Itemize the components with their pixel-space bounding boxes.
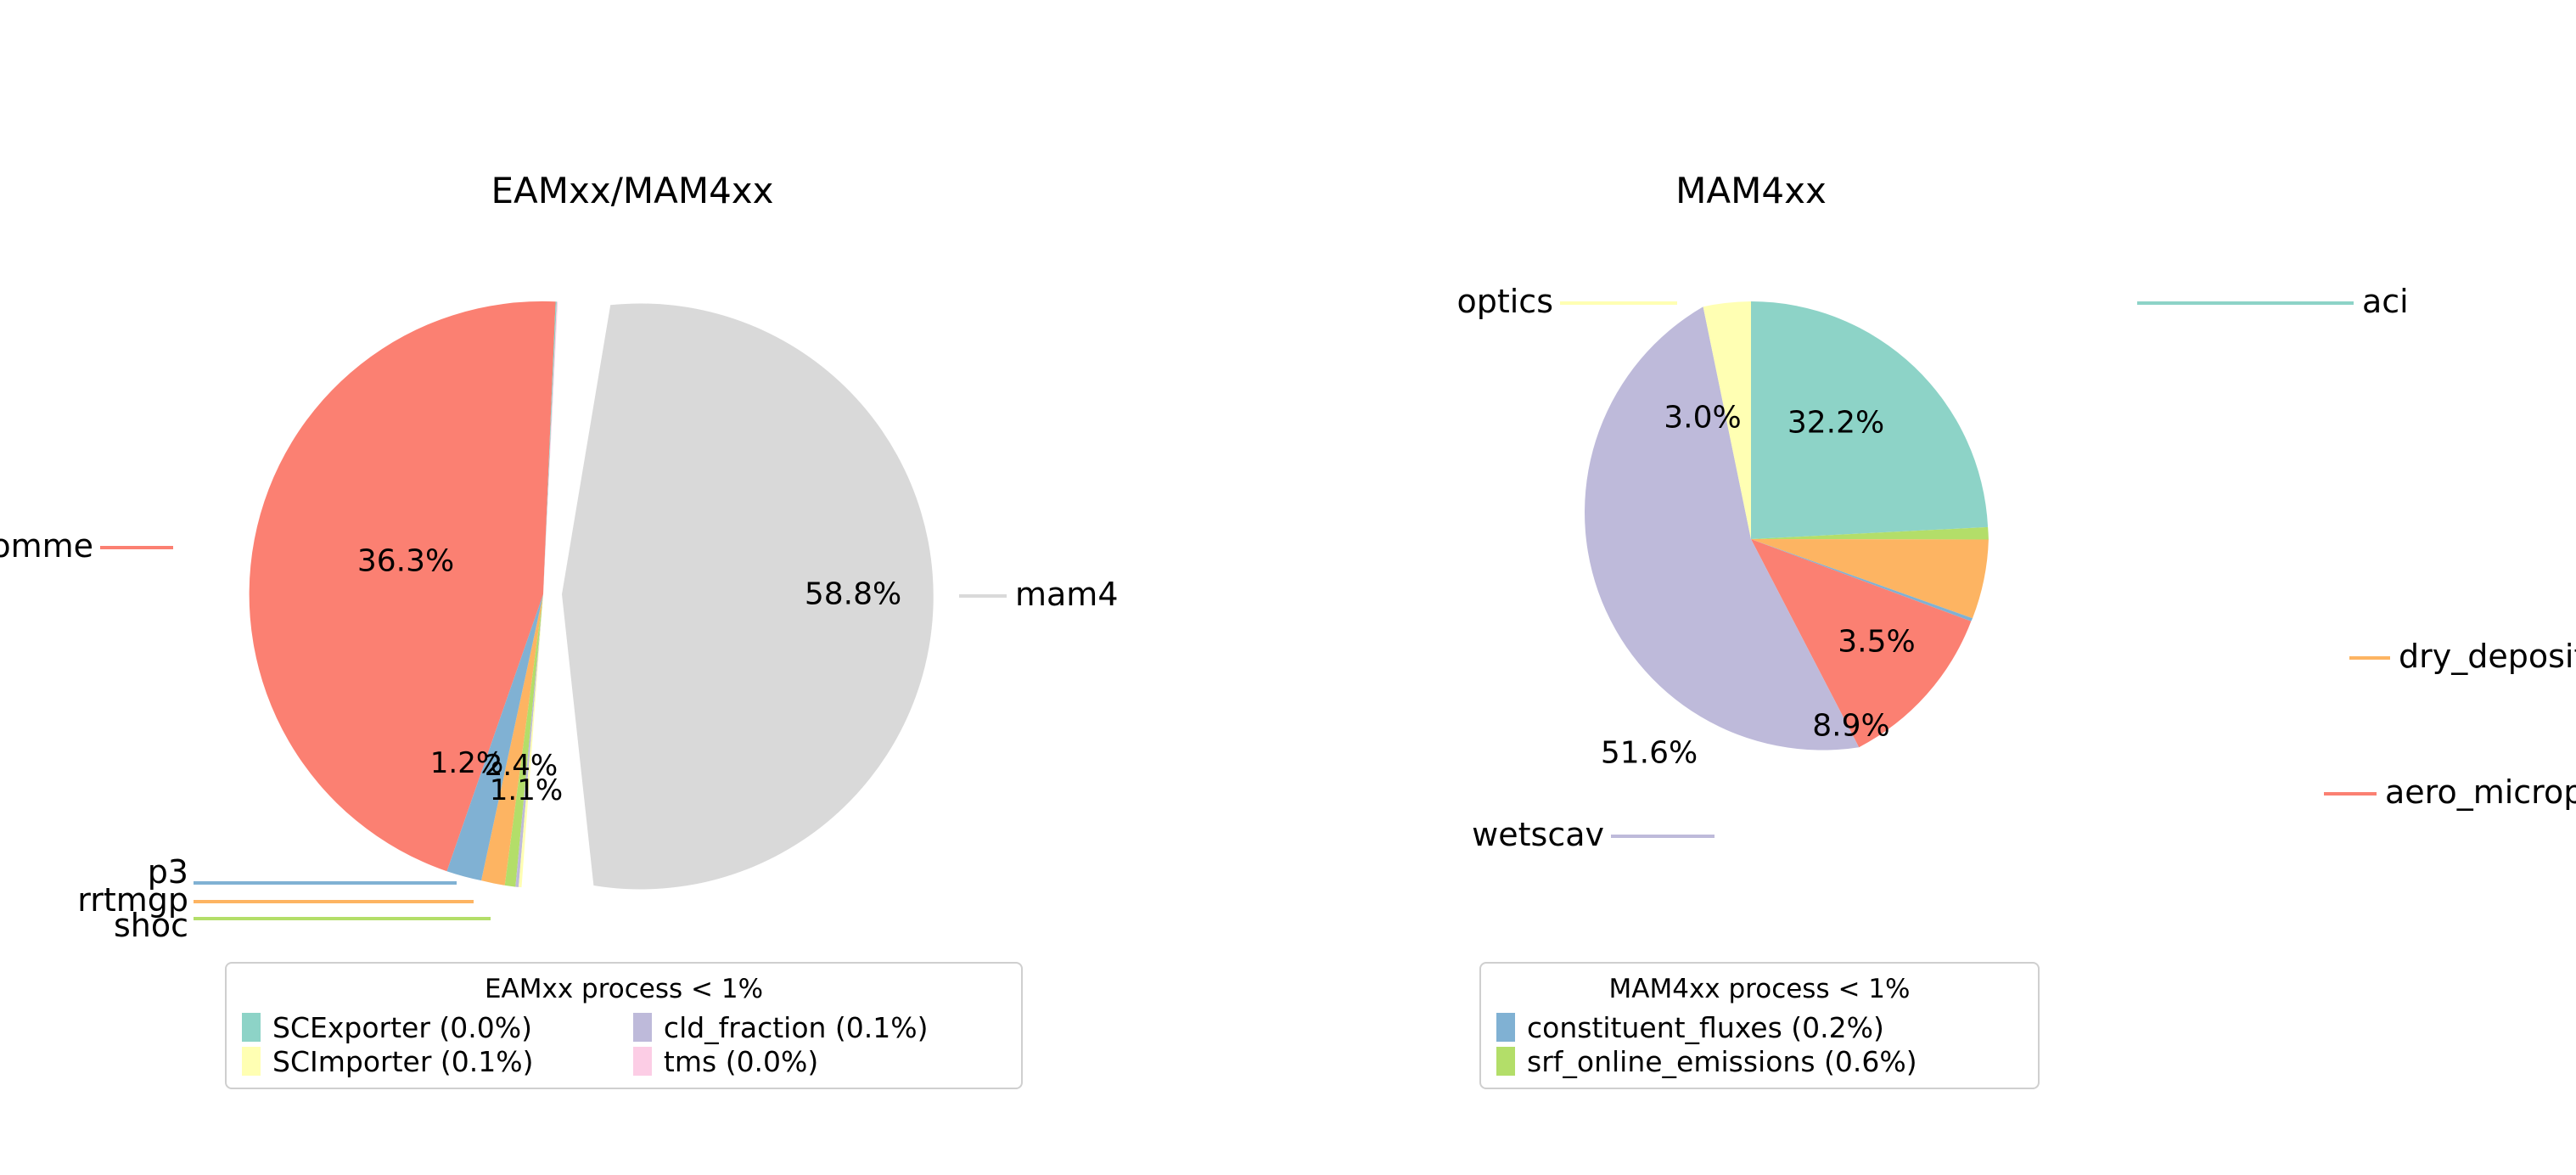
legend-label: srf_online_emissions (0.6%) xyxy=(1527,1048,1917,1076)
right-label-dry-deposition: dry_deposition xyxy=(2399,638,2576,675)
right-label-wetscav: wetscav xyxy=(1472,816,1604,853)
left-label-shoc: shoc xyxy=(114,907,188,944)
legend-label: SCImporter (0.1%) xyxy=(272,1048,533,1076)
right-legend: MAM4xx process < 1% constituent_fluxes (… xyxy=(1479,962,2040,1089)
left-leader-homme xyxy=(100,546,173,549)
legend-label: cld_fraction (0.1%) xyxy=(664,1014,929,1042)
left-leader-shoc xyxy=(194,917,491,920)
right-pct-aci: 32.2% xyxy=(1787,406,1884,441)
left-legend-title: EAMxx process < 1% xyxy=(242,974,1006,1004)
right-pct-dry-deposition: 3.5% xyxy=(1838,625,1915,660)
legend-swatch-cld-fraction xyxy=(633,1013,652,1042)
left-legend-items: SCExporter (0.0%) cld_fraction (0.1%) SC… xyxy=(242,1013,1006,1076)
right-pct-aero-microphysics: 8.9% xyxy=(1812,709,1889,744)
right-pct-wetscav: 51.6% xyxy=(1601,736,1698,771)
left-leader-rrtmgp xyxy=(194,900,474,903)
legend-swatch-srf-online-emissions xyxy=(1496,1047,1515,1076)
right-pct-optics: 3.0% xyxy=(1664,401,1741,436)
right-pie-panel: MAM4xx 32.2% 3.0% 3.5% xyxy=(1288,0,2576,1175)
left-leader-p3 xyxy=(194,881,457,885)
left-pct-homme: 36.3% xyxy=(357,544,454,579)
right-leader-dry-deposition xyxy=(2349,656,2390,660)
legend-swatch-scimporter xyxy=(242,1047,261,1076)
legend-item[interactable]: constituent_fluxes (0.2%) xyxy=(1496,1013,2023,1042)
right-label-aci: aci xyxy=(2362,283,2409,320)
right-leader-aero-microphysics xyxy=(2324,792,2377,796)
legend-swatch-tms xyxy=(633,1047,652,1076)
legend-item[interactable]: tms (0.0%) xyxy=(633,1047,1006,1076)
figure-canvas: EAMxx/MAM4xx xyxy=(0,0,2576,1175)
legend-item[interactable]: SCExporter (0.0%) xyxy=(242,1013,611,1042)
right-leader-optics xyxy=(1560,301,1677,305)
right-label-aero-microphysics: aero_microphysics xyxy=(2385,773,2576,811)
right-label-optics: optics xyxy=(1456,283,1553,320)
legend-swatch-constituent-fluxes xyxy=(1496,1013,1515,1042)
left-legend: EAMxx process < 1% SCExporter (0.0%) cld… xyxy=(225,962,1023,1089)
legend-item[interactable]: SCImporter (0.1%) xyxy=(242,1047,611,1076)
right-legend-title: MAM4xx process < 1% xyxy=(1496,974,2023,1004)
left-leader-mam4 xyxy=(959,594,1007,598)
legend-swatch-scexporter xyxy=(242,1013,261,1042)
legend-item[interactable]: srf_online_emissions (0.6%) xyxy=(1496,1047,2023,1076)
left-pct-mam4: 58.8% xyxy=(805,577,901,612)
left-label-homme: homme xyxy=(0,527,93,565)
right-legend-items: constituent_fluxes (0.2%) srf_online_emi… xyxy=(1496,1013,2023,1076)
right-leader-aci xyxy=(2137,301,2354,305)
legend-label: SCExporter (0.0%) xyxy=(272,1014,532,1042)
left-pie-panel: EAMxx/MAM4xx xyxy=(0,0,1288,1175)
legend-label: tms (0.0%) xyxy=(664,1048,818,1076)
legend-item[interactable]: cld_fraction (0.1%) xyxy=(633,1013,1006,1042)
legend-label: constituent_fluxes (0.2%) xyxy=(1527,1014,1884,1042)
right-leader-wetscav xyxy=(1611,835,1715,838)
left-label-mam4: mam4 xyxy=(1015,576,1119,613)
left-pct-shoc: 1.1% xyxy=(490,773,563,807)
